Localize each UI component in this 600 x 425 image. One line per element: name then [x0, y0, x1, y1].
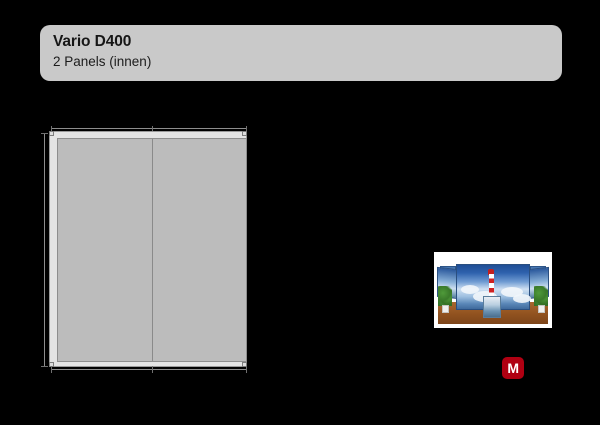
brand-logo-m: M: [502, 357, 524, 379]
plant-leaves: [438, 286, 452, 306]
page-title: Vario D400: [53, 32, 562, 51]
plant-leaves: [534, 286, 548, 306]
dimension-line-bottom: [51, 369, 247, 370]
dimension-tick-bottom-right: [246, 366, 247, 373]
dimension-tick-bottom-center: [152, 366, 153, 373]
potted-plant-left: [438, 286, 452, 316]
plant-pot: [538, 305, 545, 313]
panel-block: [57, 138, 247, 362]
panel-layout-drawing: [40, 126, 255, 371]
dimension-line-top: [51, 128, 247, 129]
trade-show-booth-photo: [434, 252, 552, 328]
dimension-tick-left-bottom: [41, 366, 48, 367]
dimension-tick-bottom-left: [51, 366, 52, 373]
dimension-tick-left-top: [41, 133, 48, 134]
brand-logo-letter: M: [507, 361, 518, 375]
panel-2[interactable]: [152, 139, 246, 361]
page-subtitle: 2 Panels (innen): [53, 53, 562, 71]
witness-mark-top-right: [242, 131, 247, 136]
plant-pot: [442, 305, 449, 313]
cloud-shape: [513, 294, 531, 303]
potted-plant-right: [534, 286, 548, 316]
witness-mark-top-left: [49, 131, 54, 136]
panel-1[interactable]: [58, 139, 152, 361]
header-bar: Vario D400 2 Panels (innen): [40, 25, 562, 81]
dimension-line-left: [44, 133, 45, 367]
booth-counter: [483, 296, 501, 318]
